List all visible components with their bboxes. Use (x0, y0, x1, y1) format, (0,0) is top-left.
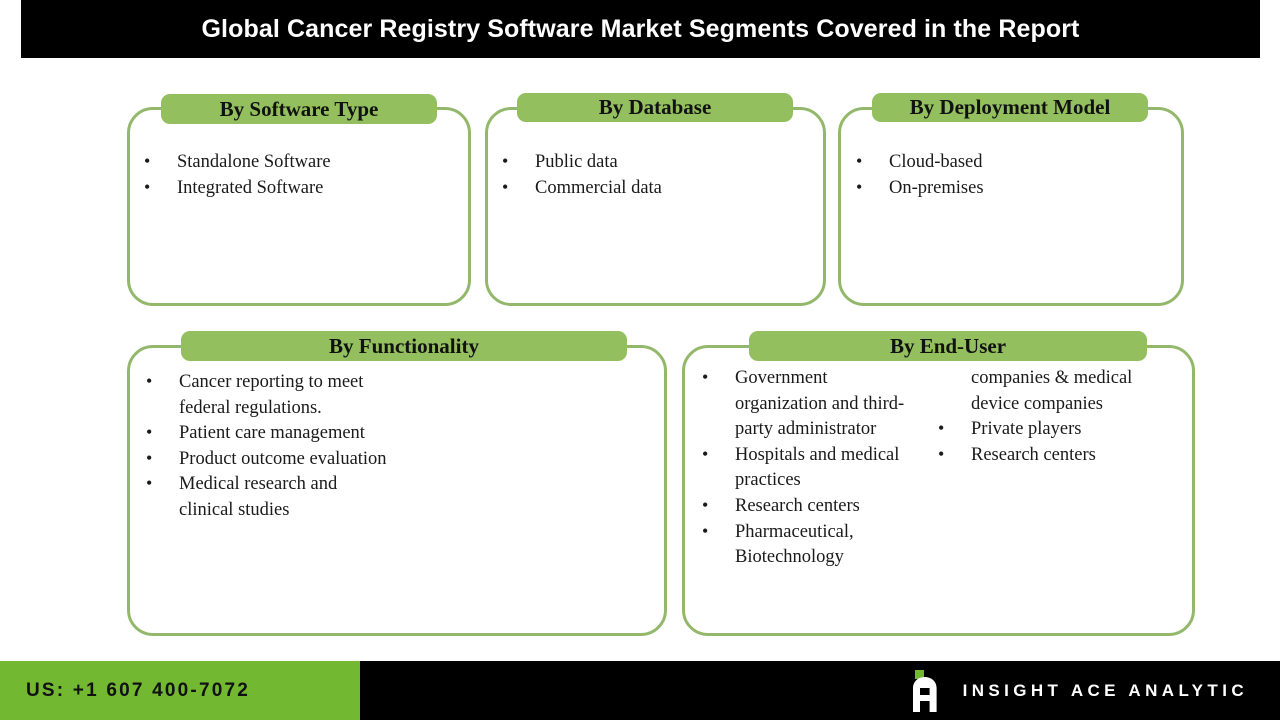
card-heading-label: By Software Type (220, 97, 379, 122)
card-body-functionality: Cancer reporting to meet federal regulat… (142, 370, 562, 524)
brand-logo: INSIGHT ACE ANALYTIC (903, 668, 1248, 714)
list-item: Pharmaceutical, Biotechnology (698, 520, 908, 571)
list-item: Research centers (934, 443, 1164, 469)
footer-brand-band: INSIGHT ACE ANALYTIC (360, 661, 1280, 720)
bullet-list: Standalone Software Integrated Software (140, 150, 460, 201)
card-deployment-model (838, 107, 1184, 306)
end-user-column-right: companies & medical device companies Pri… (934, 366, 1184, 571)
list-item: Private players (934, 417, 1164, 443)
list-item: Standalone Software (140, 150, 460, 176)
page-title: Global Cancer Registry Software Market S… (202, 15, 1080, 44)
card-heading-deployment-model: By Deployment Model (872, 93, 1148, 122)
card-heading-software-type: By Software Type (161, 94, 437, 124)
footer-contact-band: US: +1 607 400-7072 (0, 661, 360, 720)
footer-phone-number[interactable]: US: +1 607 400-7072 (26, 680, 250, 702)
end-user-column-left: Government organization and third-party … (698, 366, 934, 571)
bullet-list: Cloud-based On-premises (852, 150, 1172, 201)
card-database (485, 107, 826, 306)
list-item: Government organization and third-party … (698, 366, 908, 443)
list-item-continuation: companies & medical device companies (934, 366, 1164, 417)
bullet-list: Public data Commercial data (498, 150, 818, 201)
insight-ace-logo-icon (903, 668, 949, 714)
card-body-software-type: Standalone Software Integrated Software (140, 150, 460, 201)
card-heading-functionality: By Functionality (181, 331, 627, 361)
card-heading-label: By Database (599, 95, 712, 120)
card-heading-end-user: By End-User (749, 331, 1147, 361)
card-heading-label: By End-User (890, 334, 1006, 359)
list-item: Cloud-based (852, 150, 1172, 176)
list-item: Patient care management (142, 421, 387, 447)
card-heading-label: By Functionality (329, 334, 479, 359)
footer-bar: US: +1 607 400-7072 INSIGHT ACE ANALYTIC (0, 661, 1280, 720)
list-item: Public data (498, 150, 818, 176)
title-bar: Global Cancer Registry Software Market S… (21, 0, 1260, 58)
card-software-type (127, 107, 471, 306)
card-heading-label: By Deployment Model (910, 95, 1111, 120)
list-item: Integrated Software (140, 176, 460, 202)
bullet-list: companies & medical device companies Pri… (934, 366, 1164, 468)
card-body-deployment-model: Cloud-based On-premises (852, 150, 1172, 201)
bullet-list: Government organization and third-party … (698, 366, 908, 571)
list-item: Commercial data (498, 176, 818, 202)
list-item: Medical research and clinical studies (142, 472, 387, 523)
brand-name-label: INSIGHT ACE ANALYTIC (963, 681, 1248, 701)
list-item: Hospitals and medical practices (698, 443, 908, 494)
list-item: On-premises (852, 176, 1172, 202)
card-heading-database: By Database (517, 93, 793, 122)
bullet-list: Cancer reporting to meet federal regulat… (142, 370, 387, 524)
list-item: Cancer reporting to meet federal regulat… (142, 370, 387, 421)
list-item: Product outcome evaluation (142, 447, 387, 473)
card-body-database: Public data Commercial data (498, 150, 818, 201)
list-item: Research centers (698, 494, 908, 520)
card-body-end-user: Government organization and third-party … (698, 366, 1188, 571)
